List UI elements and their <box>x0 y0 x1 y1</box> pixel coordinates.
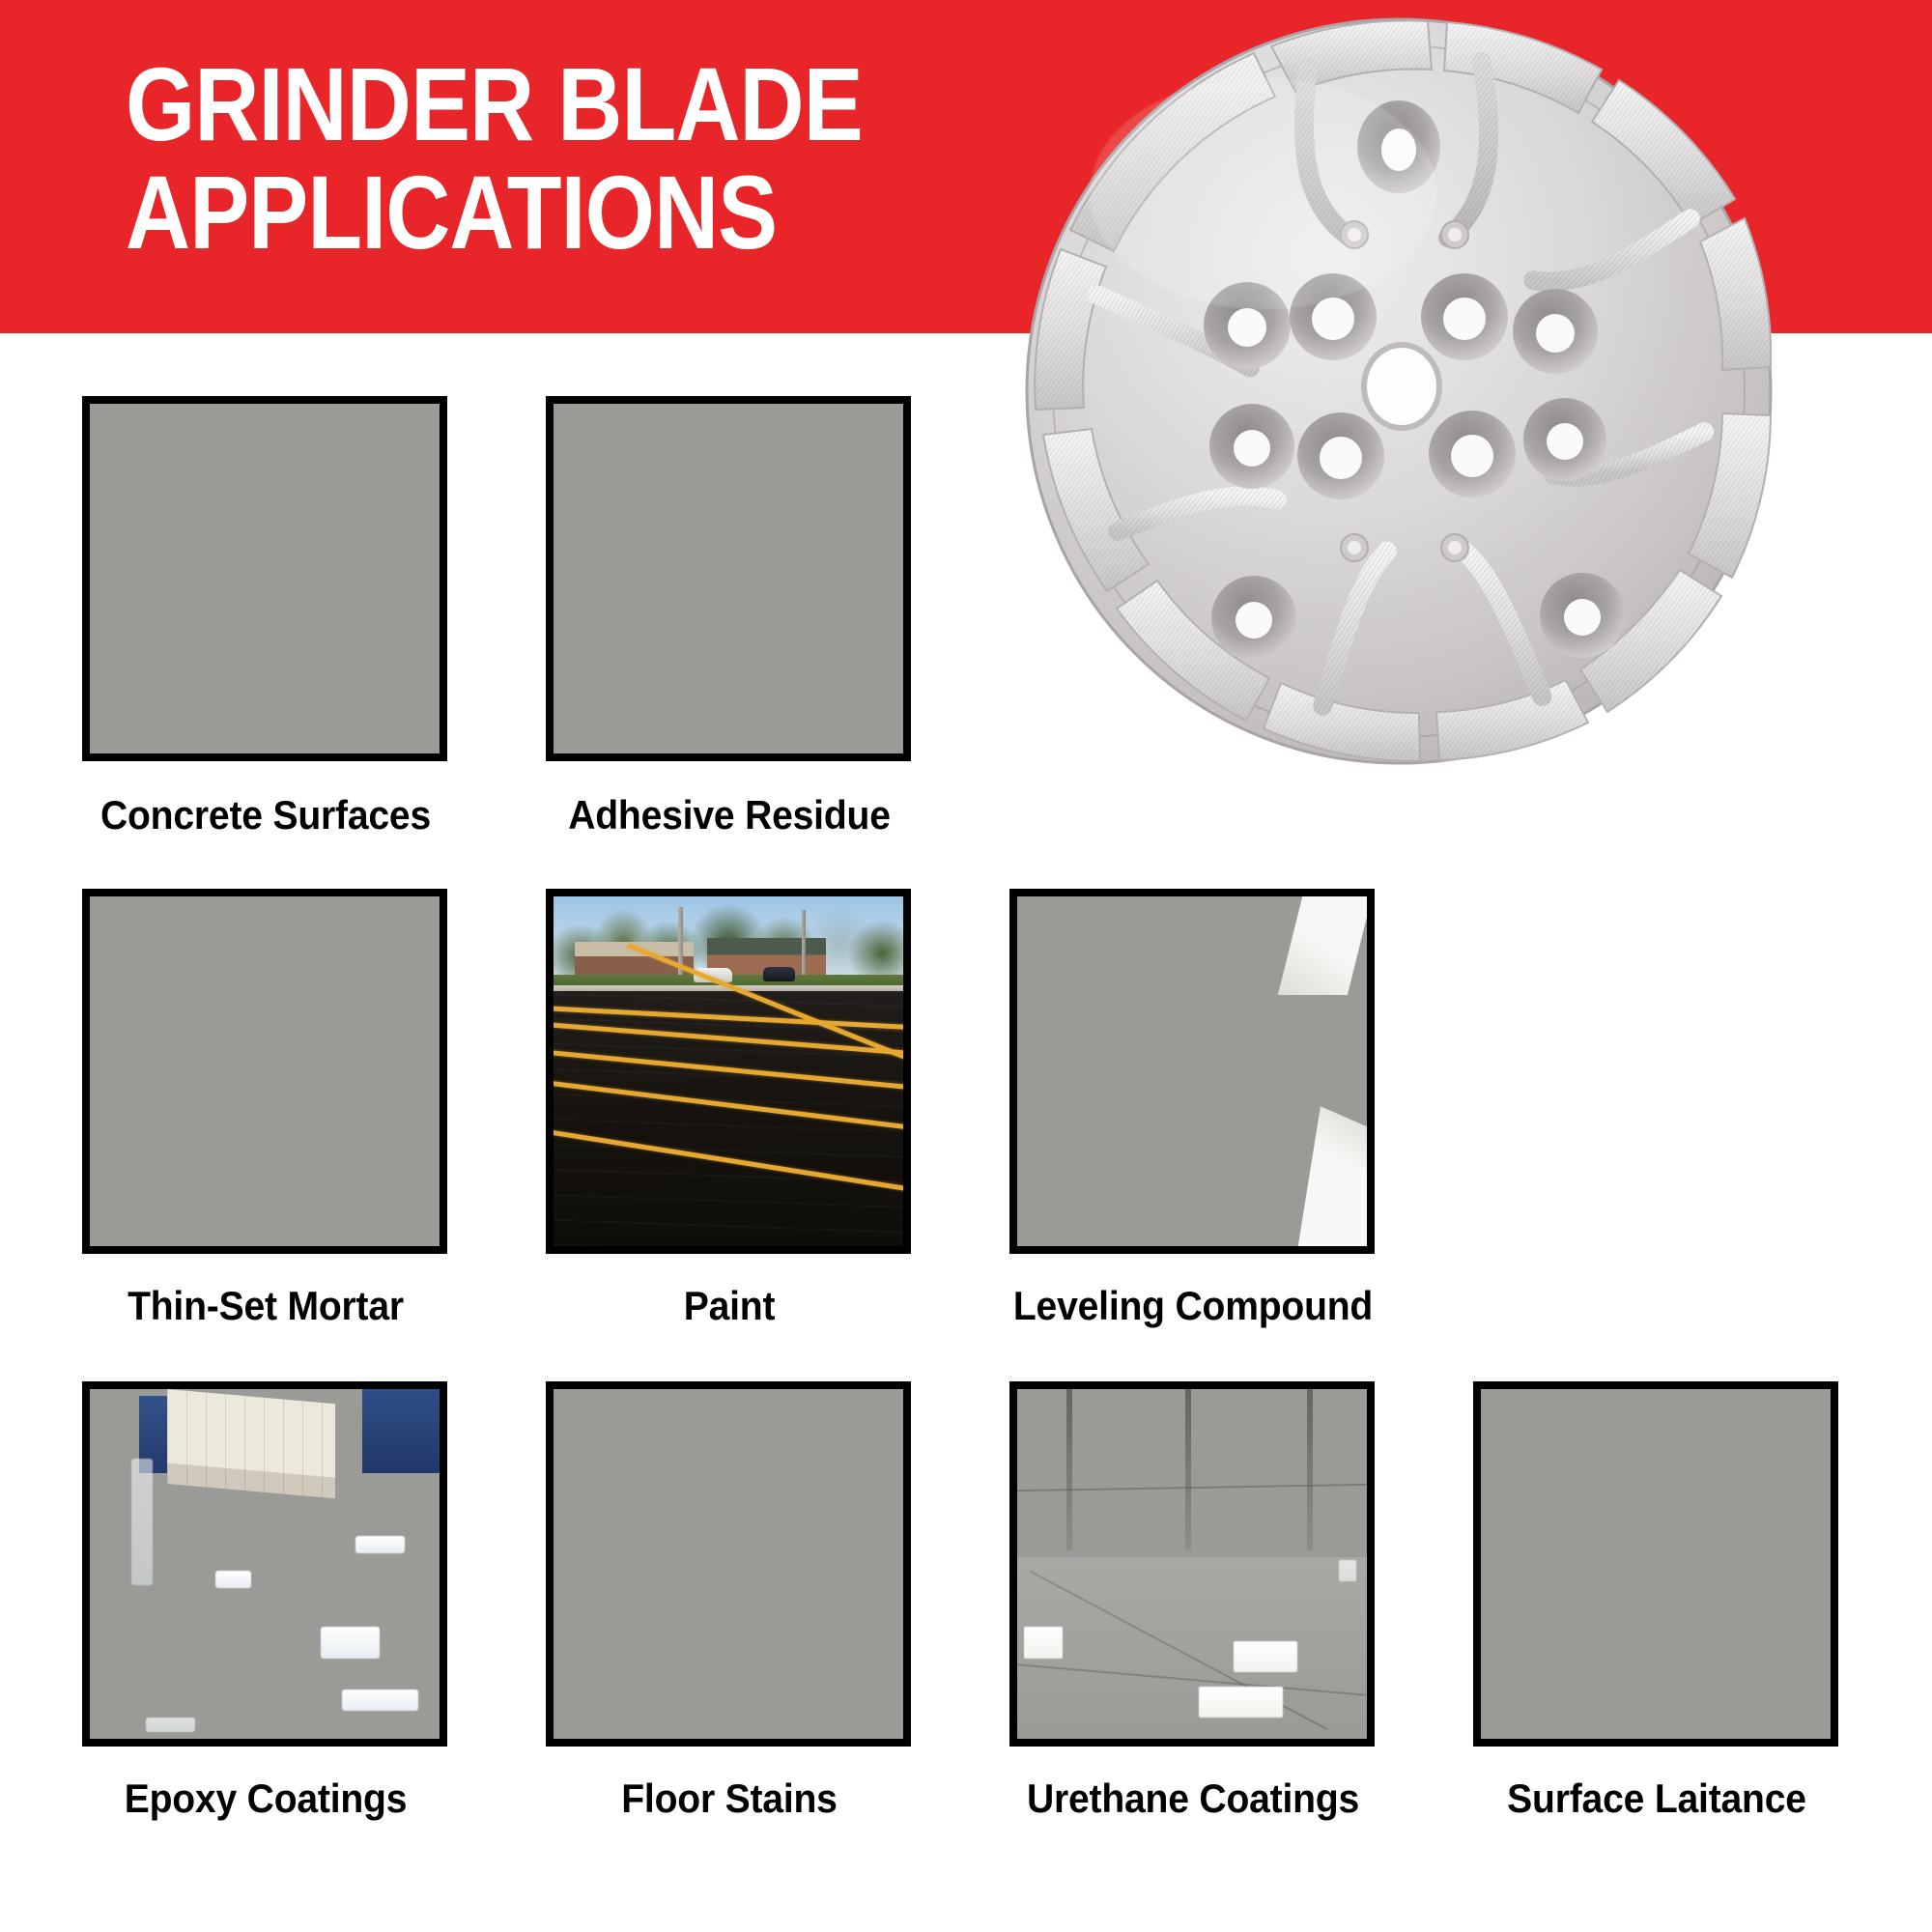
parked-car-dark <box>763 967 795 981</box>
application-tile <box>82 889 447 1254</box>
concrete-surfaces-photo <box>90 404 440 753</box>
light-reflection <box>1024 1627 1063 1659</box>
grinder-blade-icon <box>1022 10 1776 773</box>
tile-label: Paint <box>523 1283 936 1329</box>
floor-reflection <box>215 1571 250 1588</box>
application-tile <box>1473 1381 1838 1747</box>
infographic-page: GRINDER BLADE APPLICATIONS <box>0 0 1932 1932</box>
surface-laitance-photo <box>1481 1389 1831 1739</box>
tile-label: Urethane Coatings <box>986 1776 1400 1822</box>
application-tile <box>546 1381 911 1747</box>
floor-reflection <box>146 1718 195 1731</box>
light-reflection <box>1234 1641 1296 1673</box>
light-reflection <box>1339 1560 1356 1581</box>
column <box>1066 1389 1072 1550</box>
light-pole <box>678 907 684 984</box>
adhesive-residue-photo <box>554 404 903 753</box>
application-tile <box>546 396 911 761</box>
light-pole-2 <box>802 910 806 983</box>
blue-wall-right <box>362 1389 440 1473</box>
column <box>1185 1389 1191 1550</box>
floor-stains-photo <box>554 1389 903 1739</box>
paint-photo <box>554 896 903 1246</box>
wall-corner-bottom <box>1297 1106 1367 1246</box>
thin-set-mortar-photo <box>90 896 440 1246</box>
tile-label: Thin-Set Mortar <box>59 1283 472 1329</box>
application-tile <box>546 889 911 1254</box>
floor-reflection <box>321 1627 381 1659</box>
cream-wall-panel <box>167 1389 335 1498</box>
epoxy-coatings-photo <box>90 1389 440 1739</box>
tile-label: Leveling Compound <box>986 1283 1400 1329</box>
floor-reflection <box>131 1459 153 1584</box>
page-title: GRINDER BLADE APPLICATIONS <box>126 50 873 268</box>
application-tile <box>1009 889 1375 1254</box>
application-tile <box>82 1381 447 1747</box>
floor-reflection <box>355 1536 405 1553</box>
disc-wrap <box>1022 10 1776 773</box>
tile-label: Epoxy Coatings <box>59 1776 472 1822</box>
light-reflection <box>1199 1687 1283 1719</box>
grinder-blade-product-photo <box>1022 10 1776 773</box>
leveling-compound-photo <box>1017 896 1367 1246</box>
wall-corner-top <box>1278 896 1367 994</box>
tile-label: Concrete Surfaces <box>59 792 472 838</box>
floor-gloss <box>1017 1557 1367 1739</box>
tile-label: Floor Stains <box>523 1776 936 1822</box>
tile-label: Surface Laitance <box>1450 1776 1863 1822</box>
floor-reflection <box>342 1690 419 1711</box>
urethane-coatings-photo <box>1017 1389 1367 1739</box>
column <box>1307 1389 1313 1550</box>
tile-label: Adhesive Residue <box>523 792 936 838</box>
application-tile <box>1009 1381 1375 1747</box>
application-tile <box>82 396 447 761</box>
